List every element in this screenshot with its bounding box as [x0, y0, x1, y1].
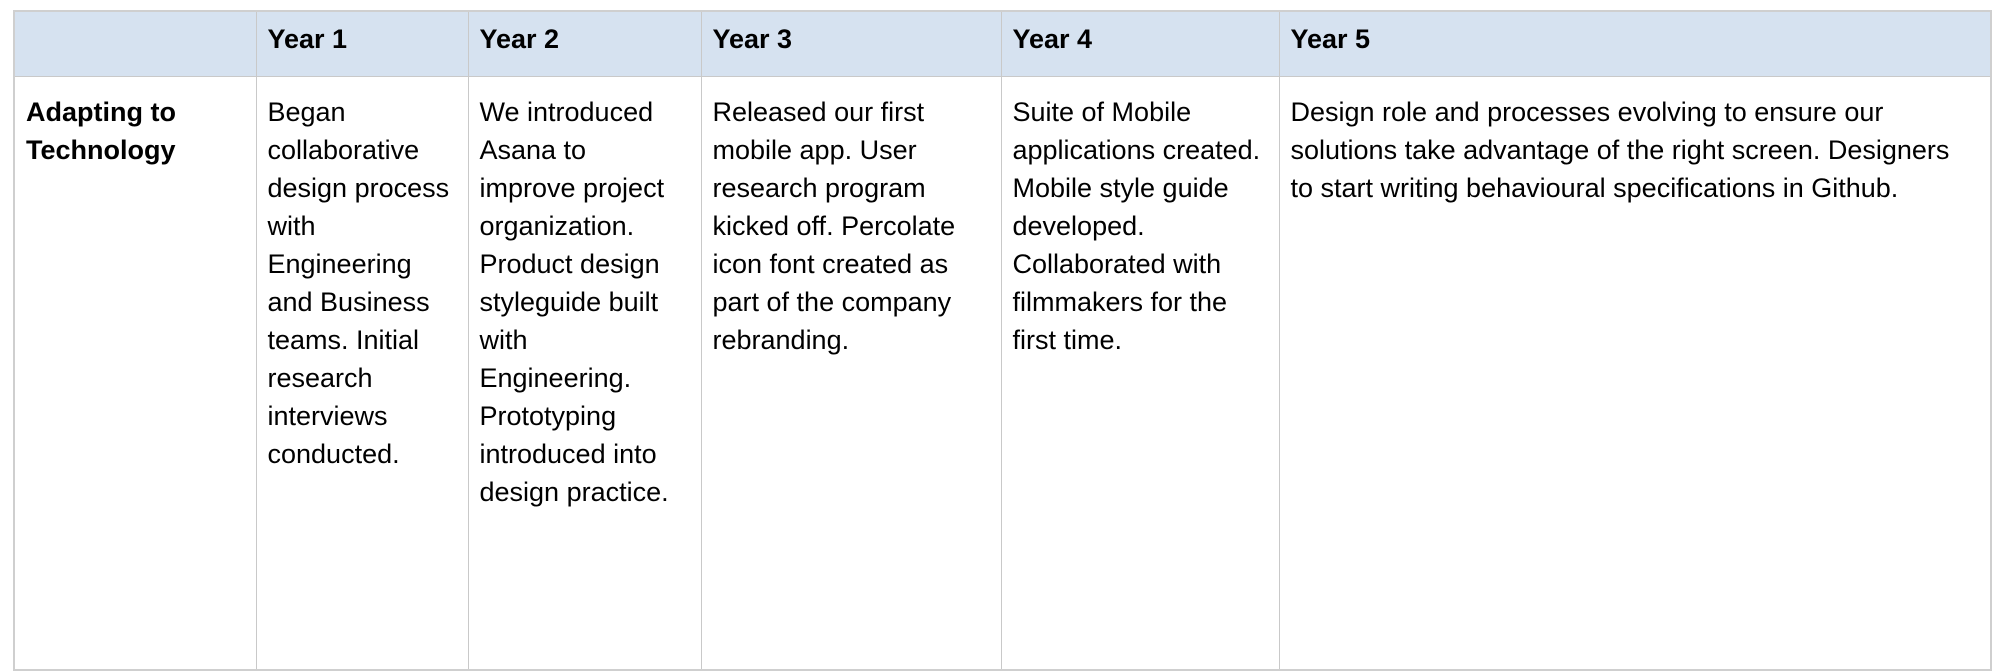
header-corner-spacer: [14, 11, 256, 77]
cell-year-4: Suite of Mobile applications created. Mo…: [1001, 77, 1279, 671]
row-label-adapting-to-technology: Adapting to Technology: [14, 77, 256, 671]
cell-year-5: Design role and processes evolving to en…: [1279, 77, 1991, 671]
cell-year-1: Began collaborative design process with …: [256, 77, 468, 671]
table-body: Adapting to Technology Began collaborati…: [14, 77, 1991, 671]
column-header-year-3: Year 3: [701, 11, 1001, 77]
cell-year-1-text: Began collaborative design process with …: [268, 93, 452, 473]
table-row: Adapting to Technology Began collaborati…: [14, 77, 1991, 671]
column-header-year-2: Year 2: [468, 11, 701, 77]
cell-year-5-text: Design role and processes evolving to en…: [1291, 93, 1975, 207]
adapting-to-technology-table: Year 1 Year 2 Year 3 Year 4 Year 5 Adapt…: [13, 10, 1992, 671]
column-header-year-4: Year 4: [1001, 11, 1279, 77]
table-header: Year 1 Year 2 Year 3 Year 4 Year 5: [14, 11, 1991, 77]
cell-year-3-text: Released our first mobile app. User rese…: [713, 93, 985, 359]
cell-year-3: Released our first mobile app. User rese…: [701, 77, 1001, 671]
timeline-matrix-container: Year 1 Year 2 Year 3 Year 4 Year 5 Adapt…: [13, 10, 1990, 671]
cell-year-2: We introduced Asana to improve project o…: [468, 77, 701, 671]
column-header-year-1: Year 1: [256, 11, 468, 77]
column-header-year-5: Year 5: [1279, 11, 1991, 77]
cell-year-4-text: Suite of Mobile applications created. Mo…: [1013, 93, 1263, 359]
cell-year-2-text: We introduced Asana to improve project o…: [480, 93, 685, 511]
header-row: Year 1 Year 2 Year 3 Year 4 Year 5: [14, 11, 1991, 77]
